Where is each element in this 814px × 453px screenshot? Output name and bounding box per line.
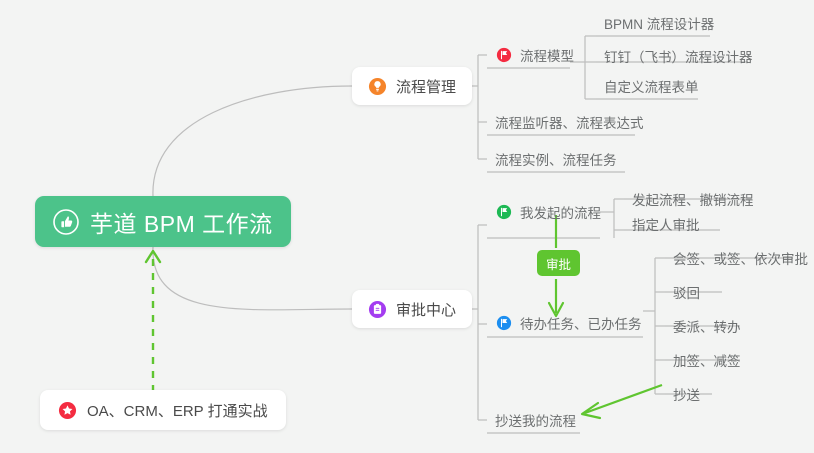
node-todo-done-tasks[interactable]: 待办任务、已办任务 — [492, 310, 649, 336]
lightbulb-icon — [368, 77, 387, 96]
node-label: 我发起的流程 — [520, 202, 601, 222]
leaf-label: BPMN 流程设计器 — [604, 13, 714, 33]
leaf-label: 加签、减签 — [673, 350, 741, 370]
branch-node-process-management[interactable]: 流程管理 — [352, 67, 472, 105]
cc-link-arrow — [582, 385, 662, 418]
callout-arrow — [146, 251, 160, 392]
leaf-label: 驳回 — [673, 282, 700, 302]
flag-green-icon — [496, 204, 512, 220]
leaf-reject[interactable]: 驳回 — [669, 279, 707, 305]
branch-node-approval-center[interactable]: 审批中心 — [352, 290, 472, 328]
approval-tag[interactable]: 审批 — [537, 250, 580, 276]
node-label: 流程模型 — [520, 45, 574, 65]
node-label: 流程监听器、流程表达式 — [495, 112, 644, 132]
leaf-start-cancel-process[interactable]: 发起流程、撤销流程 — [628, 186, 761, 212]
node-process-instance[interactable]: 流程实例、流程任务 — [491, 146, 624, 172]
flag-blue-icon — [496, 315, 512, 331]
node-label: 流程实例、流程任务 — [495, 149, 617, 169]
branch-label: 流程管理 — [396, 76, 456, 97]
approval-tag-label: 审批 — [546, 254, 571, 273]
leaf-label: 发起流程、撤销流程 — [632, 189, 754, 209]
leaf-label: 自定义流程表单 — [604, 76, 699, 96]
root-node[interactable]: 芋道 BPM 工作流 — [35, 196, 291, 247]
flag-red-icon — [496, 47, 512, 63]
callout-label: OA、CRM、ERP 打通实战 — [87, 400, 268, 421]
root-label: 芋道 BPM 工作流 — [90, 205, 273, 239]
node-process-listener[interactable]: 流程监听器、流程表达式 — [491, 109, 651, 135]
leaf-label: 委派、转办 — [673, 316, 741, 336]
leaf-bpmn-designer[interactable]: BPMN 流程设计器 — [600, 10, 721, 36]
node-my-initiated[interactable]: 我发起的流程 — [492, 199, 608, 225]
clipboard-icon — [368, 300, 387, 319]
callout-node[interactable]: OA、CRM、ERP 打通实战 — [40, 390, 286, 430]
thumbs-up-icon — [53, 209, 79, 235]
leaf-carbon-copy[interactable]: 抄送 — [669, 381, 707, 407]
mindmap-canvas: 芋道 BPM 工作流 OA、CRM、ERP 打通实战 流程管理 — [0, 0, 814, 453]
leaf-countersign[interactable]: 会签、或签、依次审批 — [669, 245, 814, 271]
branch-label: 审批中心 — [396, 299, 456, 320]
leaf-label: 指定人审批 — [632, 214, 700, 234]
node-label: 抄送我的流程 — [495, 410, 576, 430]
node-cc-to-me[interactable]: 抄送我的流程 — [491, 407, 583, 433]
node-label: 待办任务、已办任务 — [520, 313, 642, 333]
leaf-custom-form[interactable]: 自定义流程表单 — [600, 73, 706, 99]
leaf-dingtalk-designer[interactable]: 钉钉（飞书）流程设计器 — [600, 43, 760, 69]
leaf-label: 会签、或签、依次审批 — [673, 248, 808, 268]
leaf-delegate-transfer[interactable]: 委派、转办 — [669, 313, 748, 339]
star-icon — [58, 401, 77, 420]
leaf-assignee-approval[interactable]: 指定人审批 — [628, 211, 707, 237]
leaf-label: 钉钉（飞书）流程设计器 — [604, 46, 753, 66]
leaf-label: 抄送 — [673, 384, 700, 404]
leaf-add-remove-sign[interactable]: 加签、减签 — [669, 347, 748, 373]
node-process-model[interactable]: 流程模型 — [492, 42, 581, 68]
